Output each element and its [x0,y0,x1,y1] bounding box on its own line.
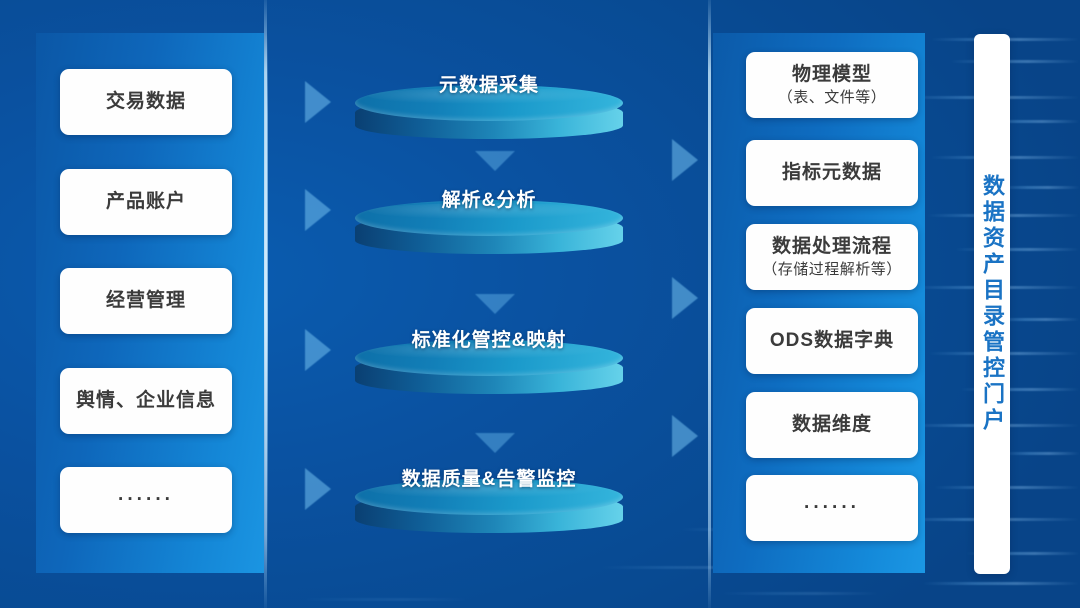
arrow-down-icon [475,151,515,171]
process-step-disc[interactable]: 标准化管控&映射 [355,340,623,402]
card-subtitle: （存储过程解析等） [762,260,902,280]
column-separator-left [264,0,267,608]
arrow-right-icon [672,415,698,457]
list-item[interactable]: ODS数据字典 [746,308,918,374]
card-title: 数据处理流程 [772,235,892,259]
process-step-label: 解析&分析 [355,185,623,212]
card-title: 舆情、企业信息 [76,389,216,413]
list-item[interactable]: 指标元数据 [746,140,918,206]
list-item[interactable]: 物理模型 （表、文件等） [746,52,918,118]
arrow-right-icon [305,189,331,231]
list-item[interactable]: 经营管理 [60,268,232,334]
card-title: ODS数据字典 [770,329,894,353]
column-separator-right [708,0,711,608]
card-title: 数据维度 [792,413,872,437]
arrow-right-icon [672,139,698,181]
process-step-disc[interactable]: 元数据采集 [355,85,623,147]
process-step-disc[interactable]: 解析&分析 [355,200,623,262]
ellipsis-label: ······ [804,497,860,519]
arrow-down-icon [475,294,515,314]
portal-label: 数据资产目录管控门户 [981,174,1003,434]
card-subtitle: （表、文件等） [778,88,887,108]
arrow-right-icon [305,81,331,123]
portal-bar[interactable]: 数据资产目录管控门户 [974,34,1010,574]
diagram-canvas: 交易数据 产品账户 经营管理 舆情、企业信息 ······ 元数据采集 解析&分… [0,0,1080,608]
card-title: 物理模型 [792,63,872,87]
ellipsis-label: ······ [118,489,174,511]
process-step-label: 元数据采集 [355,70,623,97]
card-title: 经营管理 [106,289,186,313]
list-item[interactable]: 舆情、企业信息 [60,368,232,434]
card-title: 交易数据 [106,90,186,114]
list-item[interactable]: ······ [746,475,918,541]
card-title: 产品账户 [106,190,186,214]
list-item[interactable]: 产品账户 [60,169,232,235]
process-step-label: 标准化管控&映射 [355,325,623,352]
list-item[interactable]: ······ [60,467,232,533]
process-step-disc[interactable]: 数据质量&告警监控 [355,479,623,541]
arrow-right-icon [305,468,331,510]
arrow-right-icon [305,329,331,371]
card-title: 指标元数据 [782,161,882,185]
list-item[interactable]: 数据维度 [746,392,918,458]
process-step-label: 数据质量&告警监控 [355,464,623,491]
list-item[interactable]: 数据处理流程 （存储过程解析等） [746,224,918,290]
arrow-down-icon [475,433,515,453]
arrow-right-icon [672,277,698,319]
list-item[interactable]: 交易数据 [60,69,232,135]
